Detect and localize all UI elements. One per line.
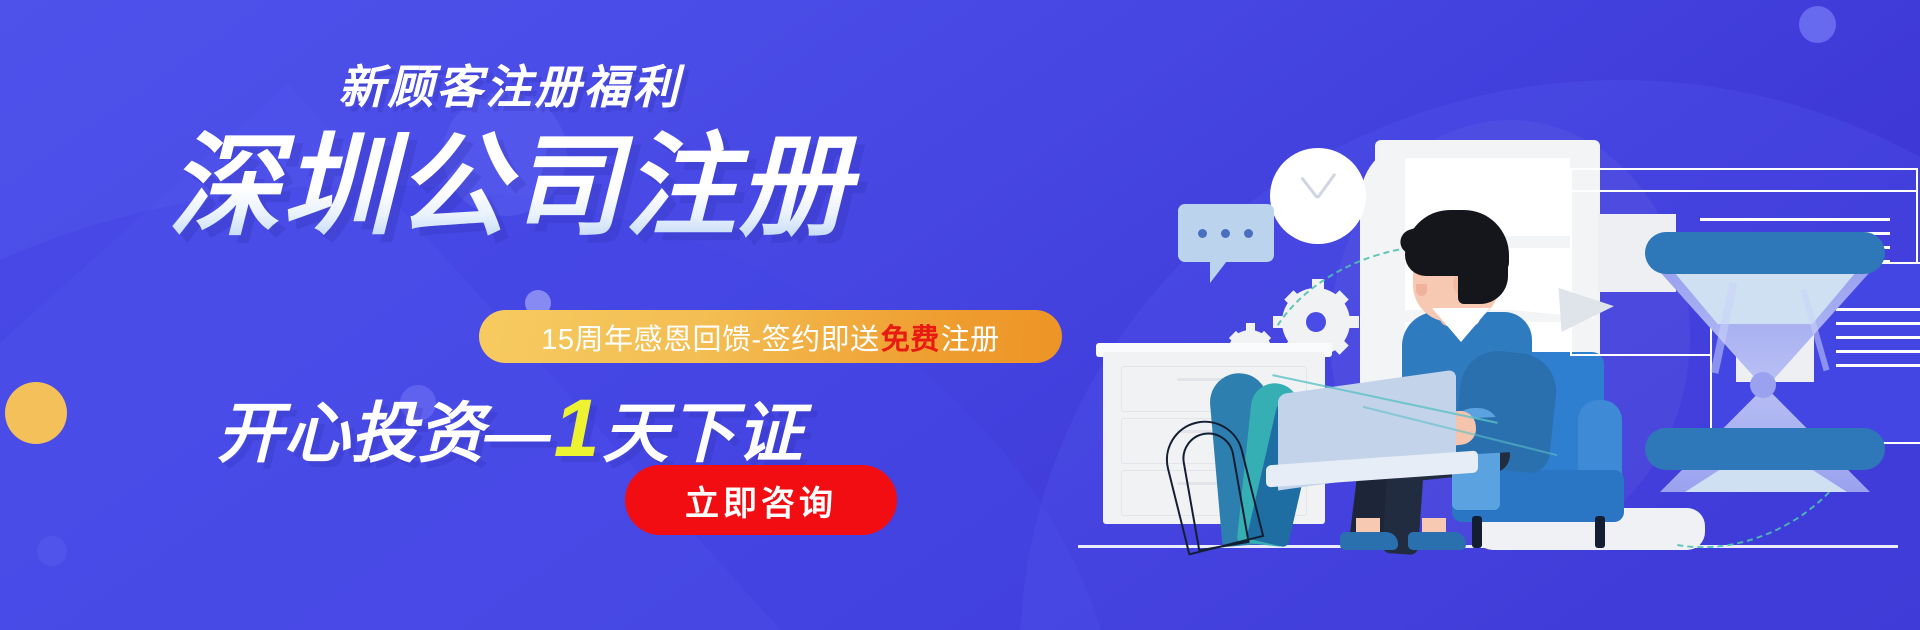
bubble-dot-icon [1244, 229, 1253, 238]
promo-badge-suffix: 注册 [941, 316, 1000, 358]
banner-copy-block: 新顾客注册福利 深圳公司注册 15周年感恩回馈-签约即送 免费 注册 开心投资—… [0, 0, 1020, 630]
banner-tagline: 开心投资—1天下证 [0, 388, 1020, 470]
document-text-line-icon [1836, 322, 1920, 325]
hourglass-top-cap-icon [1645, 232, 1885, 274]
promo-banner: 新顾客注册福利 深圳公司注册 15周年感恩回馈-签约即送 免费 注册 开心投资—… [0, 0, 1920, 630]
tagline-after: 天下证 [602, 396, 803, 470]
promo-badge: 15周年感恩回馈-签约即送 免费 注册 [479, 310, 1062, 363]
tagline-before: 开心投资— [217, 396, 552, 470]
armchair-leg-icon [1595, 516, 1605, 548]
person-hair-icon [1458, 224, 1508, 304]
hourglass-bottom-cap-icon [1645, 428, 1885, 470]
document-text-line-icon [1836, 308, 1920, 311]
document-text-line-icon [1836, 364, 1920, 367]
paper-airplane-icon [1559, 284, 1616, 332]
document-text-line-icon [1836, 350, 1920, 353]
bubble-dot-icon [1198, 229, 1207, 238]
hourglass-neck-icon [1750, 372, 1776, 398]
promo-badge-prefix: 15周年感恩回馈-签约即送 [541, 316, 879, 358]
consult-now-button[interactable]: 立即咨询 [625, 465, 897, 535]
hero-illustration [1060, 0, 1920, 630]
person-shoe-icon [1340, 532, 1398, 550]
person-shoe-icon [1408, 532, 1466, 550]
speech-bubble-icon [1178, 204, 1274, 262]
gear-tooth-icon [1246, 323, 1255, 334]
page-title: 深圳公司注册 [0, 128, 1020, 246]
person-nose-icon [1416, 284, 1427, 296]
document-text-line-icon [1836, 336, 1920, 339]
document-text-line-icon [1700, 218, 1890, 221]
document-titlebar-icon [1572, 170, 1916, 192]
clock-hand-icon [1316, 173, 1336, 199]
bubble-dot-icon [1221, 229, 1230, 238]
clock-icon [1270, 148, 1366, 244]
armchair-leg-icon [1472, 516, 1482, 548]
promo-badge-highlight: 免费 [880, 316, 941, 358]
banner-eyebrow: 新顾客注册福利 [0, 64, 1020, 110]
tagline-number: 1 [552, 383, 603, 474]
